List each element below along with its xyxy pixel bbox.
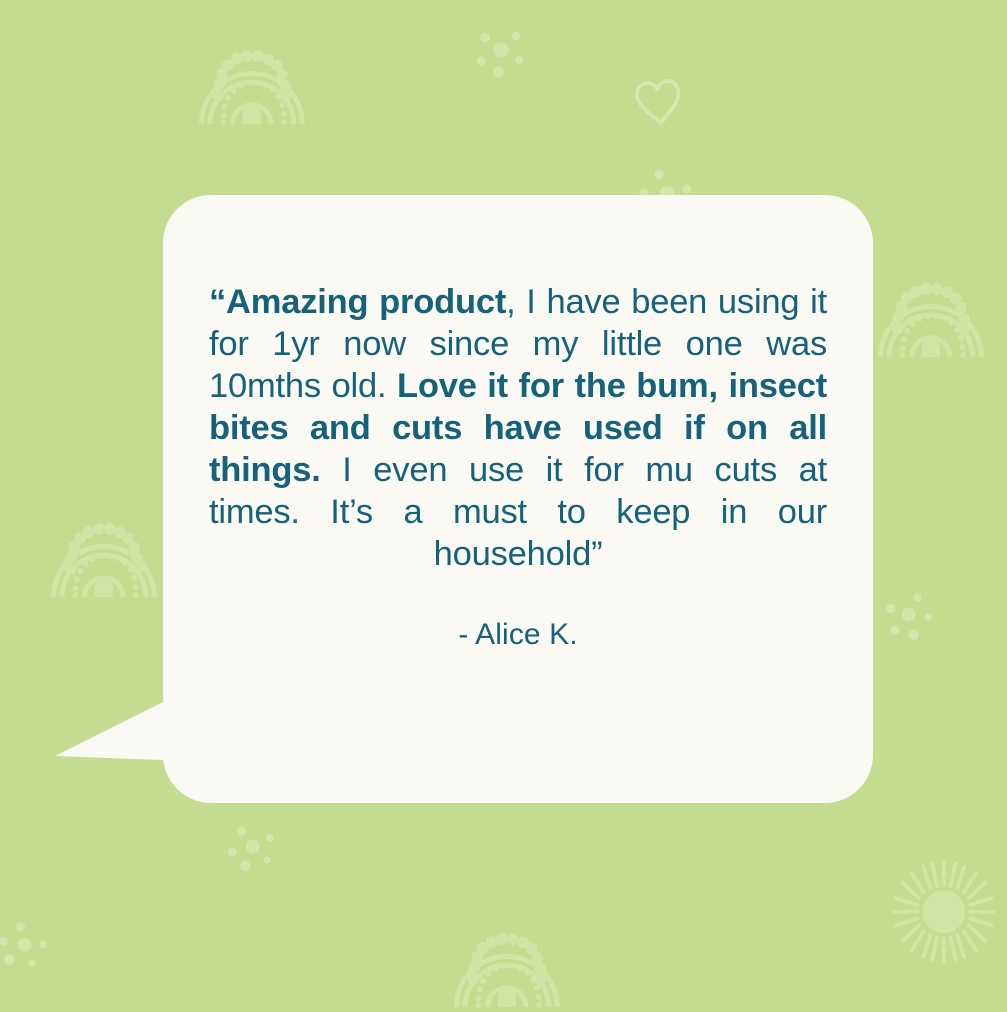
testimonial-card: “Amazing product, I have been using it f… [0, 0, 1007, 1012]
speech-bubble: “Amazing product, I have been using it f… [0, 0, 1007, 1012]
testimonial-attribution: - Alice K. [209, 617, 827, 653]
testimonial-quote: “Amazing product, I have been using it f… [209, 281, 827, 575]
testimonial-content: “Amazing product, I have been using it f… [163, 195, 873, 803]
quote-segment-bold: “Amazing product [209, 283, 506, 321]
